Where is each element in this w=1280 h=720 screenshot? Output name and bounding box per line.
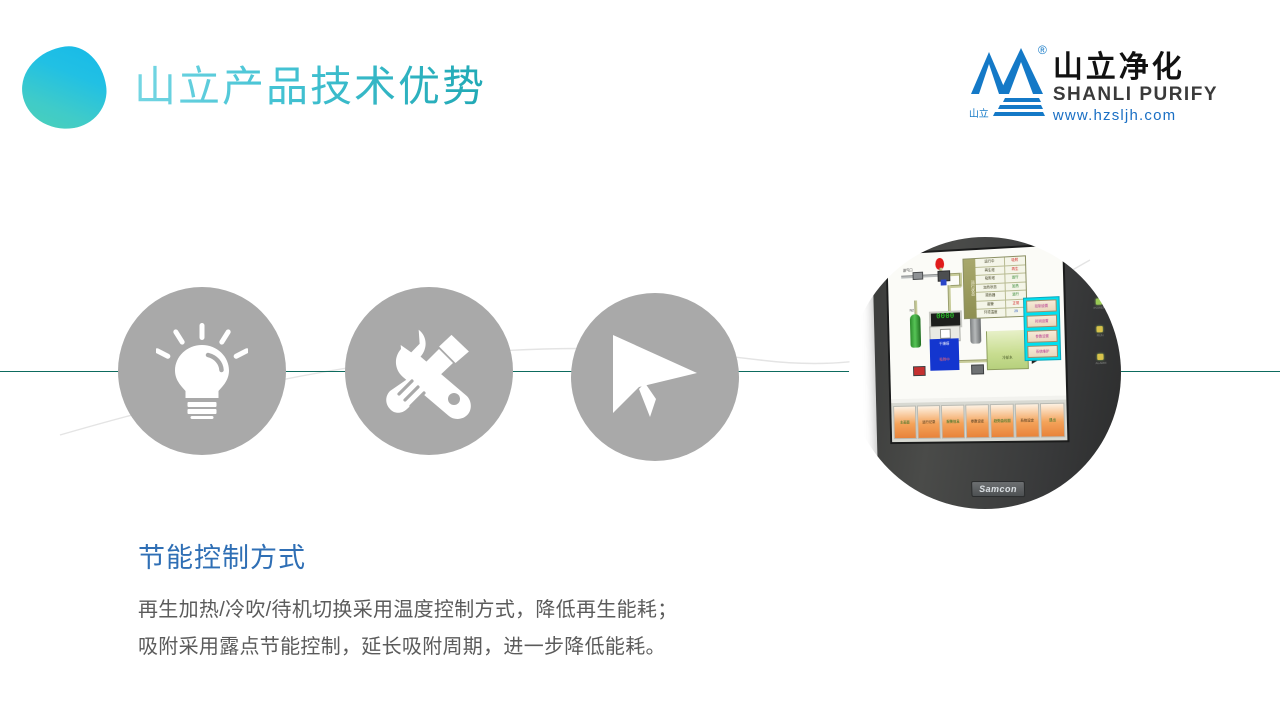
cursor-pointer-icon [609, 333, 701, 421]
cooling-basin: 冷却水 [986, 330, 1029, 370]
hmi-side-button-1[interactable]: 时间设置 [1026, 315, 1057, 328]
run-led-label: RUN [1097, 333, 1104, 337]
status-key: 运行中 [975, 257, 1004, 266]
registered-trademark-icon: ® [1038, 44, 1047, 56]
valve-icon [913, 272, 924, 280]
blob-decoration-icon [17, 42, 112, 135]
brand-logo: ® 山立 山立净化 SHANLI PURIFY www.hzsljh.com [969, 42, 1218, 125]
hmi-device-body: 进气口 N2 再生塔 0000 干燥塔 吸附中 [872, 237, 1121, 509]
readout-value: 0000 [931, 312, 960, 322]
status-value: 再生 [1005, 265, 1026, 274]
dryer-tower-status: 吸附中 [930, 346, 959, 363]
gas-tank-green [910, 314, 921, 348]
cooling-basin-label: 冷却水 [987, 330, 1028, 360]
alarm-led-group: ALARM [1095, 354, 1106, 366]
status-table: 运行状态 运行中 吸附 再生塔 再生 吸附塔 [962, 255, 1027, 318]
hmi-tab-3[interactable]: 参数设定 [965, 404, 989, 438]
run-led [1097, 326, 1103, 332]
body-line-1: 再生加热/冷吹/待机切换采用温度控制方式，降低再生能耗； [138, 592, 678, 629]
run-led-group: RUN [1097, 326, 1104, 338]
filter-bowl-icon [941, 279, 947, 285]
hmi-tab-bar: 主画面 运行记录 报警信息 参数设定 趋势曲线图 系统设定 退出 [891, 400, 1067, 443]
hmi-screen: 进气口 N2 再生塔 0000 干燥塔 吸附中 [885, 243, 1069, 444]
pump-right [971, 364, 984, 374]
status-key: 报警 [976, 300, 1005, 309]
status-value: 吸附 [1004, 256, 1025, 265]
hmi-tab-4[interactable]: 趋势曲线图 [990, 404, 1015, 438]
logo-mark-subtext: 山立 [969, 109, 989, 120]
slide-root: 山立产品技术优势 ® 山立 山立净化 SHANLI PURIFY www.hzs… [0, 0, 1280, 720]
hmi-led-group: POWER RUN ALARM [1093, 298, 1107, 365]
brand-name-en: SHANLI PURIFY [1053, 84, 1218, 106]
brand-website: www.hzsljh.com [1053, 106, 1218, 125]
status-value: 运行 [1005, 273, 1026, 282]
hmi-process-diagram: 进气口 N2 再生塔 0000 干燥塔 吸附中 [887, 245, 1066, 399]
hmi-brand-label: Samcon [971, 481, 1025, 497]
power-led-label: POWER [1093, 305, 1105, 310]
hmi-side-button-0[interactable]: 控制设置 [1026, 299, 1057, 312]
power-led-group: POWER [1093, 298, 1105, 310]
timeline-node-2[interactable] [345, 287, 513, 455]
pump-left [913, 366, 926, 376]
status-key: 吸附塔 [976, 274, 1005, 283]
wrench-screwdriver-icon [381, 323, 477, 419]
status-table-rows: 运行中 吸附 再生塔 再生 吸附塔 运行 [975, 256, 1026, 317]
label-inlet: 进气口 [903, 268, 913, 272]
table-row: 环境温度 25 [977, 308, 1027, 318]
hmi-tab-6[interactable]: 退出 [1040, 403, 1065, 438]
power-led [1096, 298, 1102, 304]
label-tank-left: N2 [910, 308, 914, 312]
hmi-side-button-3[interactable]: 系统维护 [1027, 345, 1058, 358]
status-key: 加热状态 [976, 283, 1005, 292]
brand-logo-text: 山立净化 SHANLI PURIFY www.hzsljh.com [1053, 42, 1218, 125]
controller-screen [939, 329, 950, 339]
section-heading: 节能控制方式 [138, 540, 306, 576]
alarm-led [1098, 354, 1104, 360]
alarm-led-label: ALARM [1095, 361, 1106, 365]
hmi-tab-5[interactable]: 系统设定 [1015, 403, 1040, 438]
page-title: 山立产品技术优势 [134, 58, 486, 116]
lightbulb-icon [156, 323, 248, 419]
hmi-panel-photo: 进气口 N2 再生塔 0000 干燥塔 吸附中 [849, 237, 1121, 509]
mountain-logo-icon: ® 山立 [969, 42, 1045, 120]
hmi-side-button-group: 控制设置 时间设置 参数设置 系统维护 [1023, 296, 1061, 361]
dryer-tower: 干燥塔 吸附中 [930, 338, 960, 371]
timeline-node-1[interactable] [118, 287, 286, 455]
hmi-tab-0[interactable]: 主画面 [893, 406, 917, 440]
timeline-node-3[interactable] [571, 293, 739, 461]
hmi-tab-1[interactable]: 运行记录 [917, 405, 941, 439]
hmi-tab-2[interactable]: 报警信息 [941, 405, 965, 439]
brand-name-cn: 山立净化 [1053, 52, 1218, 84]
status-key: 再生塔 [975, 266, 1004, 275]
body-line-2: 吸附采用露点节能控制，延长吸附周期，进一步降低能耗。 [138, 629, 678, 666]
status-value: 加热 [1005, 282, 1026, 290]
hmi-side-button-2[interactable]: 参数设置 [1027, 330, 1058, 343]
status-key: 环境温度 [977, 309, 1006, 318]
body-text: 再生加热/冷吹/待机切换采用温度控制方式，降低再生能耗； 吸附采用露点节能控制，… [138, 592, 678, 666]
status-key: 预热器 [976, 291, 1005, 300]
